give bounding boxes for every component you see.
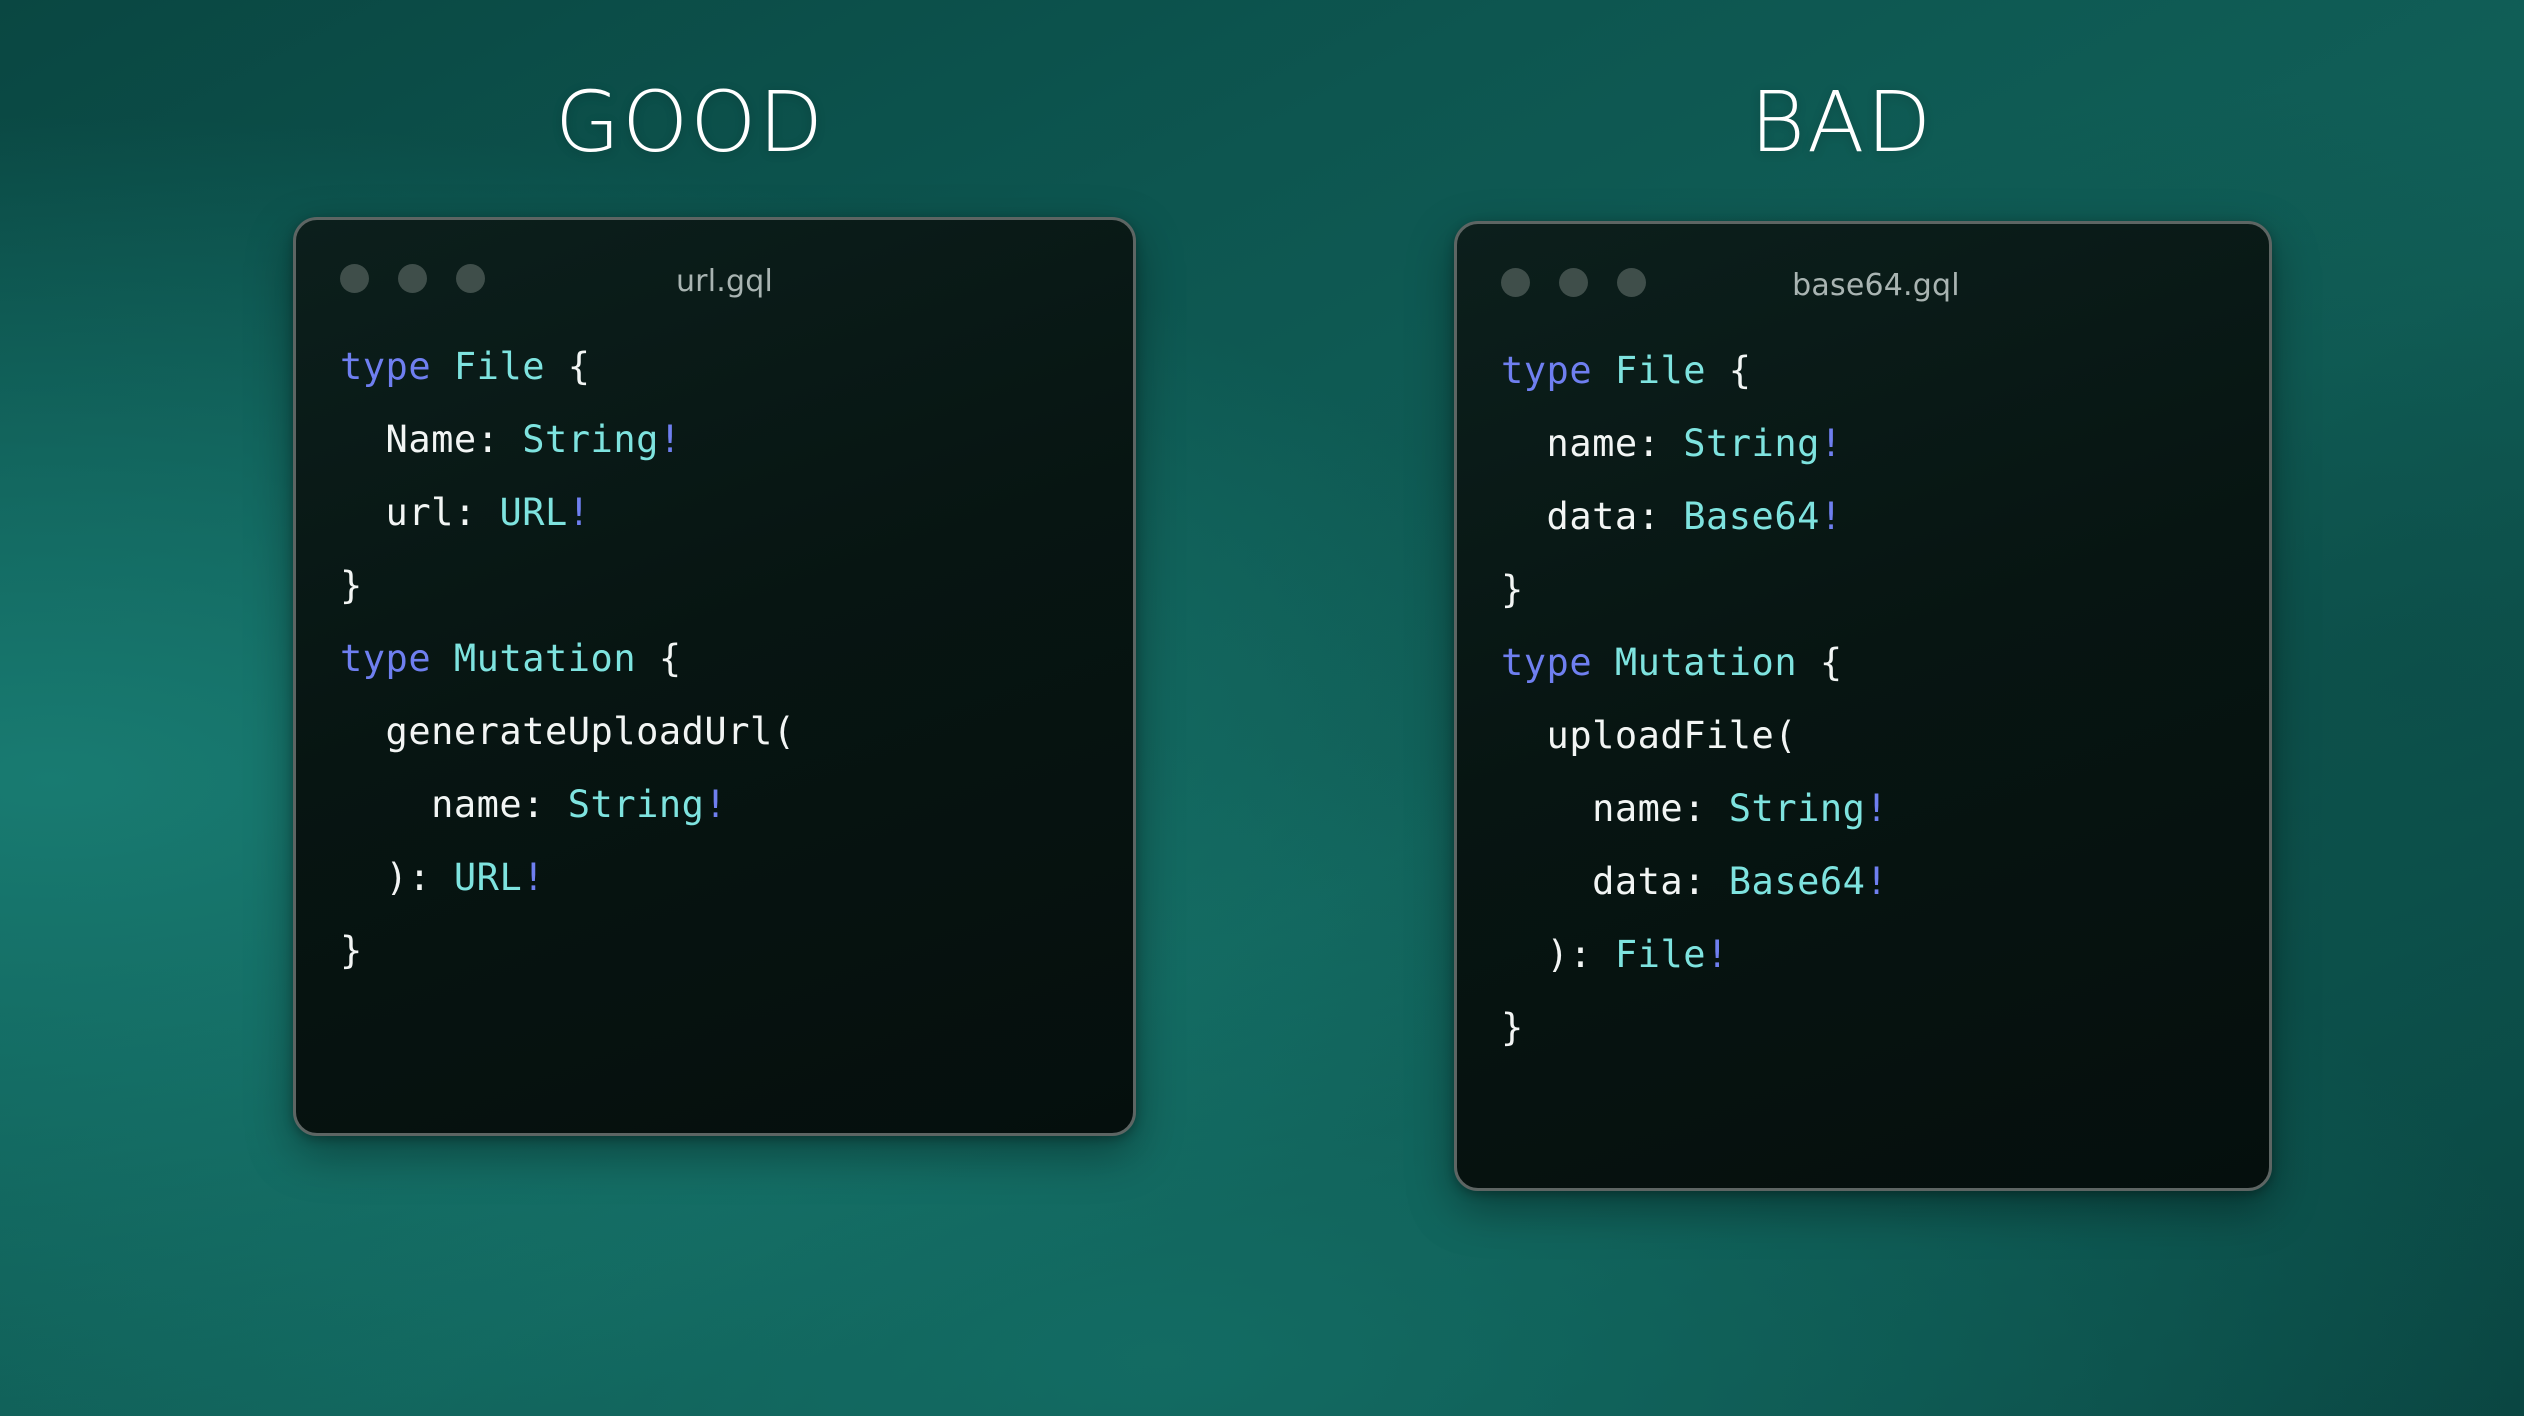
code-line: } (1501, 553, 2269, 626)
code-token-type: String (1683, 422, 1820, 465)
minimize-dot-icon[interactable] (398, 264, 427, 293)
code-token-plain: name: (1501, 787, 1729, 830)
code-token-type: File (1615, 349, 1706, 392)
maximize-dot-icon[interactable] (456, 264, 485, 293)
code-token-bang: ! (1865, 787, 1888, 830)
minimize-dot-icon[interactable] (1559, 268, 1588, 297)
code-token-plain: } (1501, 568, 1524, 611)
code-token-type: Base64 (1683, 495, 1820, 538)
code-block: type File { name: String! data: Base64!}… (1457, 334, 2269, 1064)
code-token-plain: data: (1501, 860, 1729, 903)
code-line: Name: String! (340, 403, 1133, 476)
close-dot-icon[interactable] (1501, 268, 1530, 297)
code-line: name: String! (1501, 772, 2269, 845)
code-token-type: String (568, 783, 705, 826)
code-line: type Mutation { (1501, 626, 2269, 699)
code-token-plain: data: (1501, 495, 1683, 538)
code-line: url: URL! (340, 476, 1133, 549)
code-line: } (340, 914, 1133, 987)
code-token-plain: name: (340, 783, 568, 826)
code-panel-bad[interactable]: base64.gql type File { name: String! dat… (1454, 221, 2272, 1191)
code-line: type File { (340, 330, 1133, 403)
code-token-type: URL (499, 491, 567, 534)
code-line: } (1501, 991, 2269, 1064)
code-line: data: Base64! (1501, 845, 2269, 918)
panel-titlebar: url.gql (296, 220, 1133, 330)
code-token-bang: ! (1865, 860, 1888, 903)
code-token-plain: } (340, 564, 363, 607)
code-token-bang: ! (1820, 422, 1843, 465)
code-line: type File { (1501, 334, 2269, 407)
code-token-plain: url: (340, 491, 499, 534)
code-token-plain: uploadFile( (1501, 714, 1797, 757)
code-token-plain: } (340, 929, 363, 972)
panel-titlebar: base64.gql (1457, 224, 2269, 334)
code-token-plain (431, 345, 454, 388)
code-token-plain: { (1706, 349, 1752, 392)
code-token-type: File (1615, 933, 1706, 976)
code-token-kw: type (340, 637, 431, 680)
code-token-plain: { (1797, 641, 1843, 684)
code-token-type: String (1729, 787, 1866, 830)
code-line: data: Base64! (1501, 480, 2269, 553)
code-token-kw: type (1501, 641, 1592, 684)
code-token-type: Base64 (1729, 860, 1866, 903)
code-token-type: File (454, 345, 545, 388)
code-line: generateUploadUrl( (340, 695, 1133, 768)
close-dot-icon[interactable] (340, 264, 369, 293)
maximize-dot-icon[interactable] (1617, 268, 1646, 297)
code-token-plain (1592, 349, 1615, 392)
code-line: ): URL! (340, 841, 1133, 914)
code-token-bang: ! (522, 856, 545, 899)
heading-bad: BAD (1750, 80, 1933, 164)
code-token-plain (1592, 641, 1615, 684)
window-controls[interactable] (1501, 268, 1646, 297)
code-token-plain: ): (1501, 933, 1615, 976)
code-token-kw: type (340, 345, 431, 388)
code-line: type Mutation { (340, 622, 1133, 695)
code-token-type: Mutation (454, 637, 636, 680)
code-line: } (340, 549, 1133, 622)
code-token-bang: ! (659, 418, 682, 461)
window-controls[interactable] (340, 264, 485, 293)
code-line: uploadFile( (1501, 699, 2269, 772)
slide-canvas: GOOD BAD url.gql type File { Name: Strin… (0, 0, 2524, 1416)
code-token-bang: ! (568, 491, 591, 534)
code-token-bang: ! (704, 783, 727, 826)
heading-good: GOOD (555, 80, 825, 164)
code-line: name: String! (1501, 407, 2269, 480)
code-token-bang: ! (1706, 933, 1729, 976)
code-token-bang: ! (1820, 495, 1843, 538)
code-line: name: String! (340, 768, 1133, 841)
code-token-plain: } (1501, 1006, 1524, 1049)
code-token-plain: { (636, 637, 682, 680)
code-token-plain (431, 637, 454, 680)
code-token-type: URL (454, 856, 522, 899)
code-block: type File { Name: String! url: URL!}type… (296, 330, 1133, 987)
code-line: ): File! (1501, 918, 2269, 991)
code-token-plain: name: (1501, 422, 1683, 465)
code-token-plain: ): (340, 856, 454, 899)
code-token-type: String (522, 418, 659, 461)
code-token-plain: { (545, 345, 591, 388)
code-token-type: Mutation (1615, 641, 1797, 684)
code-panel-good[interactable]: url.gql type File { Name: String! url: U… (293, 217, 1136, 1136)
code-token-plain: generateUploadUrl( (340, 710, 796, 753)
code-token-plain: Name: (340, 418, 522, 461)
code-token-kw: type (1501, 349, 1592, 392)
